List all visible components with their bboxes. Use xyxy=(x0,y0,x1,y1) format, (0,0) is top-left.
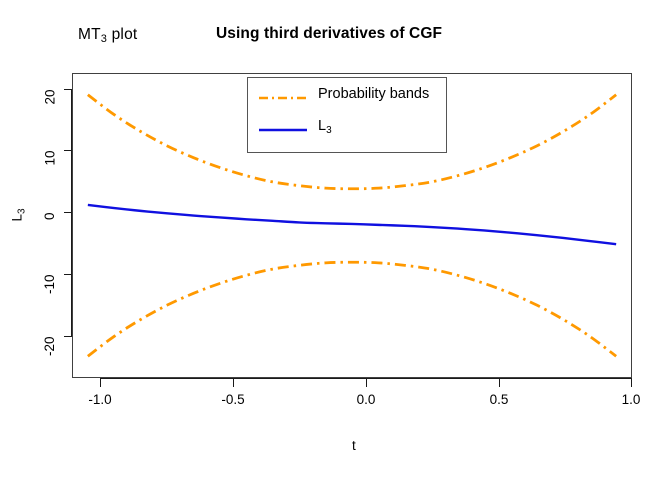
legend-item-probability-bands: Probability bands xyxy=(248,86,446,116)
legend-item-l3: L3 xyxy=(248,118,446,148)
x-tick-label: -1.0 xyxy=(88,392,111,407)
corner-label: MT3 plot xyxy=(78,26,137,45)
x-tick-label: 0.0 xyxy=(357,392,376,407)
x-tick-label: 1.0 xyxy=(622,392,641,407)
chart-title: Using third derivatives of CGF xyxy=(216,25,442,43)
x-tick-mark xyxy=(100,379,101,387)
y-tick-label: -10 xyxy=(43,275,58,295)
y-tick-mark xyxy=(64,274,72,275)
x-tick-label: -0.5 xyxy=(221,392,244,407)
legend-label-l3: L3 xyxy=(318,118,332,136)
legend-label-l3-prefix: L xyxy=(318,118,326,134)
legend-swatch-dashdot-icon xyxy=(259,95,307,99)
y-axis-title-prefix: L xyxy=(10,214,25,222)
legend-swatch-solid-icon xyxy=(259,127,307,131)
y-tick-mark xyxy=(64,89,72,90)
chart-page: MT3 plot Using third derivatives of CGF … xyxy=(0,0,672,480)
y-tick-label: 0 xyxy=(43,213,58,221)
y-tick-mark xyxy=(64,336,72,337)
x-tick-mark xyxy=(499,379,500,387)
y-tick-mark xyxy=(64,212,72,213)
y-axis-title-subscript: 3 xyxy=(17,208,28,214)
x-tick-label: 0.5 xyxy=(490,392,509,407)
y-tick-label: 10 xyxy=(43,151,58,166)
y-tick-mark xyxy=(64,150,72,151)
y-axis-title: L3 xyxy=(10,208,28,221)
x-axis-title: t xyxy=(352,438,356,453)
corner-label-prefix: MT xyxy=(78,26,101,43)
y-tick-label: 20 xyxy=(43,90,58,105)
x-tick-mark xyxy=(631,379,632,387)
x-tick-mark xyxy=(233,379,234,387)
y-axis-line xyxy=(71,89,72,337)
series-line xyxy=(88,262,616,356)
legend-label-probability-bands: Probability bands xyxy=(318,86,429,102)
corner-label-suffix: plot xyxy=(107,26,137,43)
legend: Probability bands L3 xyxy=(247,77,447,153)
series-line xyxy=(88,205,616,244)
x-tick-mark xyxy=(366,379,367,387)
y-tick-label: -20 xyxy=(43,337,58,357)
legend-label-l3-subscript: 3 xyxy=(326,125,332,136)
